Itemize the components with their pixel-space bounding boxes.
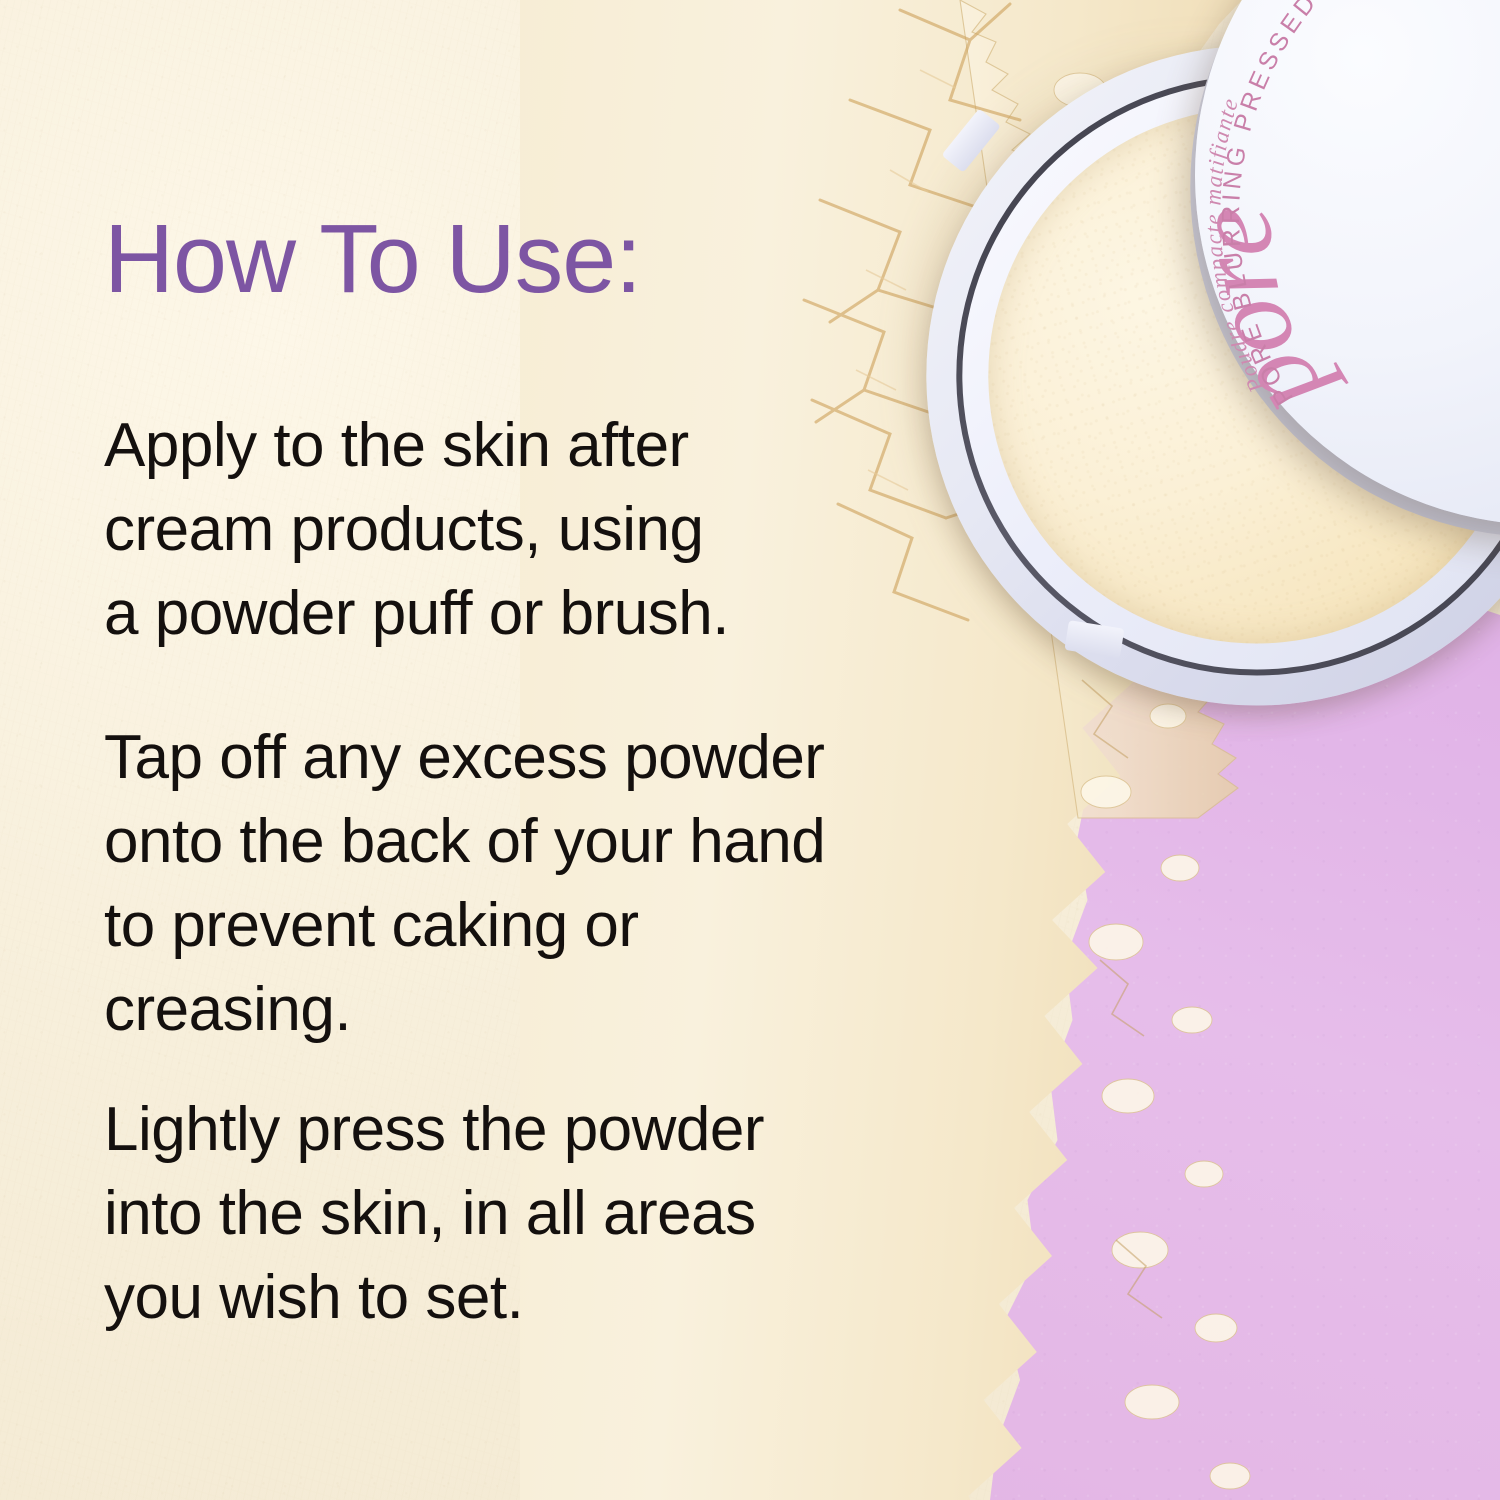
instruction-step-3: Lightly press the powder into the skin, … (104, 1088, 764, 1340)
page-title: How To Use: (104, 210, 641, 307)
product-instruction-graphic: pore PORE BLURRING PRESSED POWDER Poudre… (0, 0, 1500, 1500)
instruction-step-1: Apply to the skin after cream products, … (104, 404, 729, 656)
instruction-step-2: Tap off any excess powder onto the back … (104, 716, 825, 1052)
instructions-text-column: How To Use: Apply to the skin after crea… (100, 0, 900, 1500)
